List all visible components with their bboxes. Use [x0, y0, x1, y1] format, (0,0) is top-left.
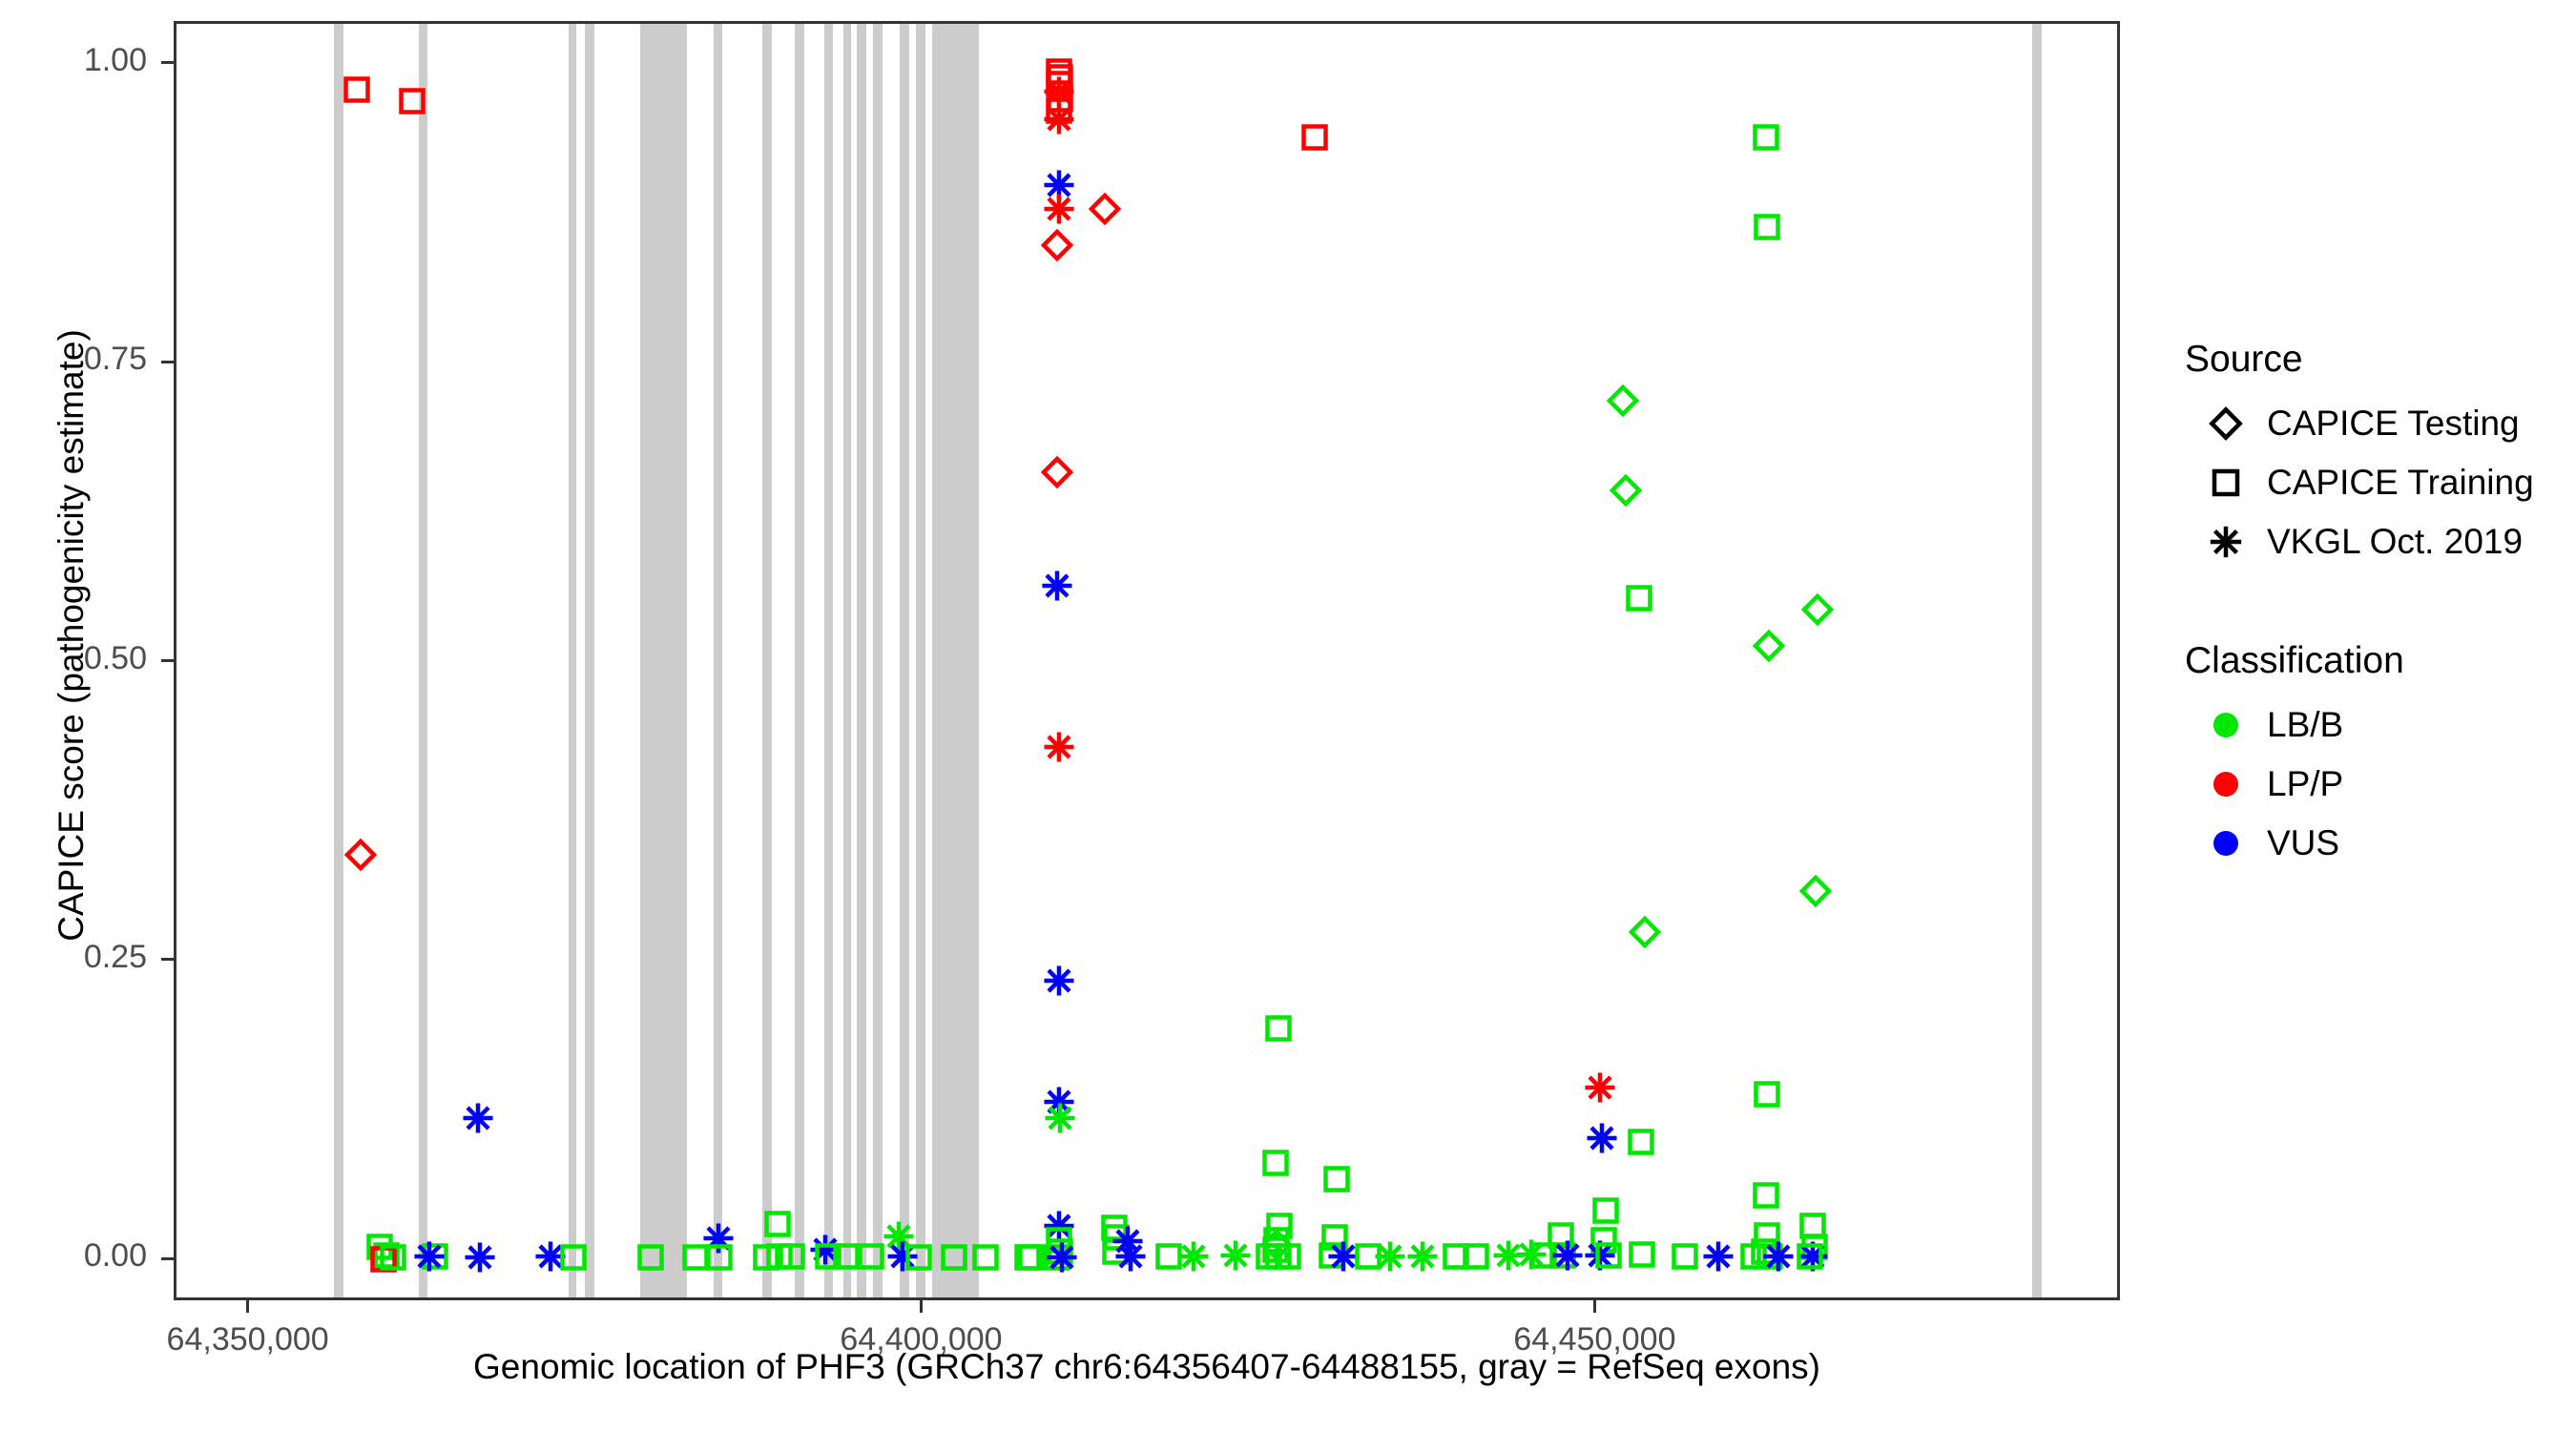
- x-tick-label: 64,350,000: [167, 1321, 329, 1358]
- refseq-exon-bar: [585, 24, 594, 1297]
- x-axis-title: Genomic location of PHF3 (GRCh37 chr6:64…: [174, 1347, 2120, 1387]
- legend-source-label: CAPICE Testing: [2267, 404, 2520, 444]
- y-tick-label: 1.00: [84, 42, 147, 79]
- y-tick-mark: [161, 659, 174, 662]
- refseq-exon-bar: [795, 24, 804, 1297]
- y-axis-title: CAPICE score (pathogenicity estimate): [52, 63, 92, 1208]
- legend-source-item[interactable]: VKGL Oct. 2019: [2185, 512, 2566, 571]
- y-tick-label: 0.25: [84, 939, 147, 976]
- x-tick-label: 64,450,000: [1513, 1321, 1675, 1358]
- color-dot-icon: [2185, 768, 2267, 800]
- legend-source-label: CAPICE Training: [2267, 463, 2534, 503]
- legend-classification-item[interactable]: LP/P: [2185, 755, 2566, 814]
- legend-source-label: VKGL Oct. 2019: [2267, 522, 2523, 562]
- refseq-exon-bar: [824, 24, 832, 1297]
- legend-classification-label: LP/P: [2267, 764, 2343, 804]
- x-tick-mark: [246, 1300, 249, 1313]
- refseq-exon-bar: [569, 24, 576, 1297]
- plot-area: [177, 24, 2117, 1297]
- square-icon: [2185, 467, 2267, 498]
- x-tick-mark: [1593, 1300, 1596, 1313]
- refseq-exon-bar: [857, 24, 866, 1297]
- legend-spacer: [2185, 571, 2566, 640]
- x-tick-mark: [920, 1300, 923, 1313]
- legend-classification-title: Classification: [2185, 640, 2566, 682]
- refseq-exon-bar: [714, 24, 721, 1297]
- refseq-exon-bar: [900, 24, 909, 1297]
- legend-source-item[interactable]: CAPICE Training: [2185, 453, 2566, 512]
- refseq-exon-bar: [932, 24, 979, 1297]
- y-tick-mark: [161, 958, 174, 961]
- refseq-exon-bar: [916, 24, 925, 1297]
- diamond-icon: [2185, 406, 2267, 441]
- plot-panel: [174, 21, 2120, 1300]
- y-tick-label: 0.00: [84, 1237, 147, 1275]
- legend-classification-group: LB/BLP/PVUS: [2185, 695, 2566, 873]
- legend-source-item[interactable]: CAPICE Testing: [2185, 394, 2566, 453]
- y-tick-mark: [161, 1257, 174, 1260]
- y-tick-label: 0.50: [84, 640, 147, 677]
- y-tick-mark: [161, 61, 174, 64]
- y-tick-mark: [161, 361, 174, 363]
- refseq-exon-bar: [334, 24, 343, 1297]
- chart-root: CAPICE score (pathogenicity estimate) Ge…: [0, 0, 2576, 1431]
- refseq-exon-bar: [640, 24, 687, 1297]
- legend-classification-label: LB/B: [2267, 705, 2343, 745]
- refseq-exon-bar: [762, 24, 772, 1297]
- refseq-exon-bar: [2032, 24, 2042, 1297]
- legend-classification-label: VUS: [2267, 823, 2339, 863]
- color-dot-icon: [2185, 827, 2267, 860]
- x-tick-label: 64,400,000: [840, 1321, 1002, 1358]
- refseq-exon-bar: [873, 24, 883, 1297]
- legend-classification-item[interactable]: LB/B: [2185, 695, 2566, 755]
- y-tick-label: 0.75: [84, 341, 147, 378]
- legend-source-title: Source: [2185, 339, 2566, 381]
- refseq-exon-bar: [419, 24, 426, 1297]
- legend-source-group: CAPICE Testing CAPICE TrainingVKGL Oct. …: [2185, 394, 2566, 571]
- asterisk-icon: [2185, 524, 2267, 560]
- refseq-exon-bar: [843, 24, 851, 1297]
- color-dot-icon: [2185, 709, 2267, 741]
- legend-classification-item[interactable]: VUS: [2185, 814, 2566, 873]
- legend: Source CAPICE Testing CAPICE TrainingVKG…: [2185, 339, 2566, 873]
